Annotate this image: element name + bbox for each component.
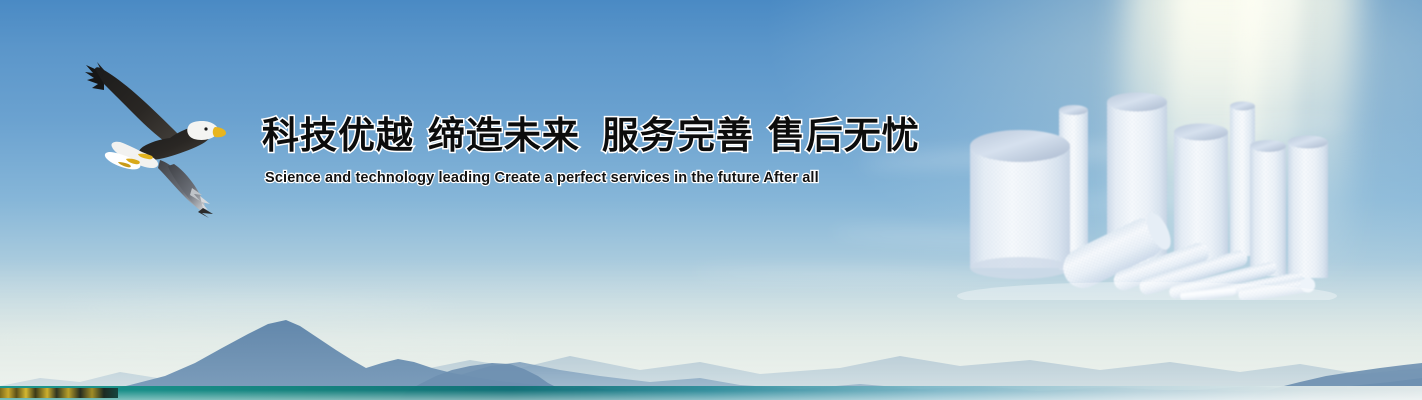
- banner-subheadline: Science and technology leading Create a …: [265, 171, 819, 186]
- headline-phrase-2: 服务完善 售后无忧: [602, 114, 920, 157]
- water-highlight: [0, 390, 1422, 400]
- hero-banner: 科技优越 缔造未来服务完善 售后无忧 Science and technolog…: [0, 0, 1422, 400]
- shoreline-strip: [0, 388, 118, 398]
- eagle-illustration: [82, 56, 227, 218]
- banner-headline: 科技优越 缔造未来服务完善 售后无忧: [262, 117, 920, 154]
- product-cluster-illustration: [952, 84, 1342, 300]
- mountain-range-silhouette: [0, 290, 1422, 400]
- headline-phrase-1: 科技优越 缔造未来: [262, 114, 580, 157]
